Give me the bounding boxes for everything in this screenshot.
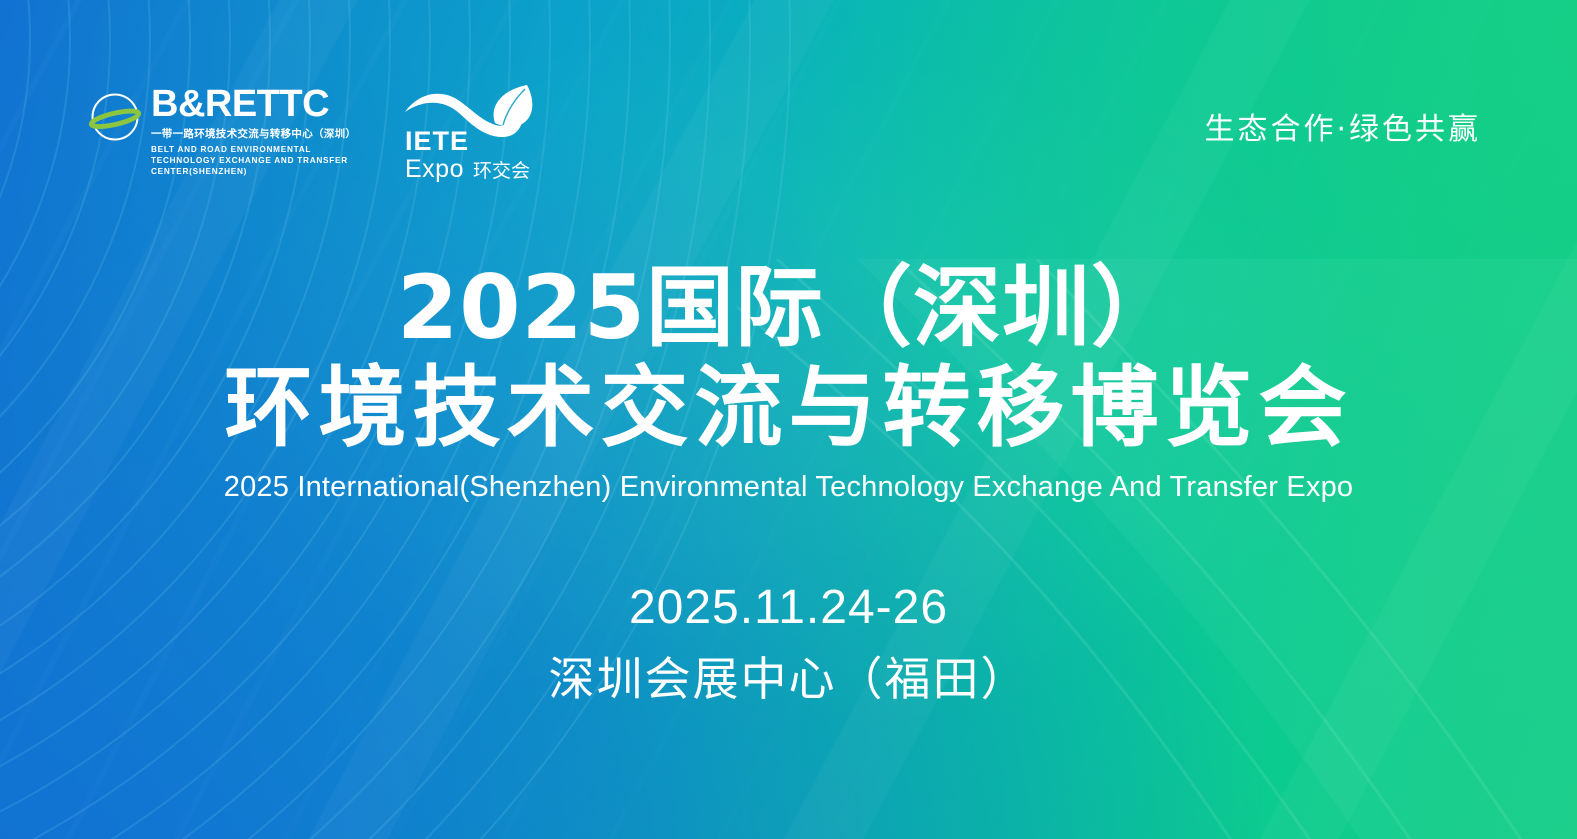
- brettc-wordmark: B&RETTC: [151, 86, 361, 122]
- brettc-english-name: BELT AND ROAD ENVIRONMENTAL TECHNOLOGY E…: [151, 144, 361, 177]
- event-venue: 深圳会展中心（福田）: [0, 643, 1577, 709]
- logo-row: B&RETTC 一带一路环境技术交流与转移中心（深圳） BELT AND ROA…: [88, 86, 559, 182]
- iete-chinese: 环交会: [473, 162, 530, 181]
- iete-expo-logo: IETE Expo 环交会: [399, 84, 559, 182]
- main-content: 2025国际（深圳） 环境技术交流与转移博览会 2025 Internation…: [0, 262, 1577, 709]
- title-line-1: 2025国际（深圳）: [0, 262, 1577, 354]
- iete-abbr: IETE: [405, 128, 530, 155]
- globe-ring-icon: [88, 90, 142, 144]
- subtitle-english: 2025 International(Shenzhen) Environment…: [0, 471, 1577, 504]
- event-banner: B&RETTC 一带一路环境技术交流与转移中心（深圳） BELT AND ROA…: [0, 0, 1577, 839]
- slogan-text: 生态合作·绿色共赢: [1204, 104, 1481, 148]
- brettc-logo: B&RETTC 一带一路环境技术交流与转移中心（深圳） BELT AND ROA…: [88, 86, 361, 177]
- title-line-2: 环境技术交流与转移博览会: [0, 360, 1577, 455]
- iete-expo-word: Expo: [405, 157, 464, 182]
- event-date: 2025.11.24-26: [0, 580, 1577, 635]
- brettc-chinese-name: 一带一路环境技术交流与转移中心（深圳）: [151, 126, 361, 141]
